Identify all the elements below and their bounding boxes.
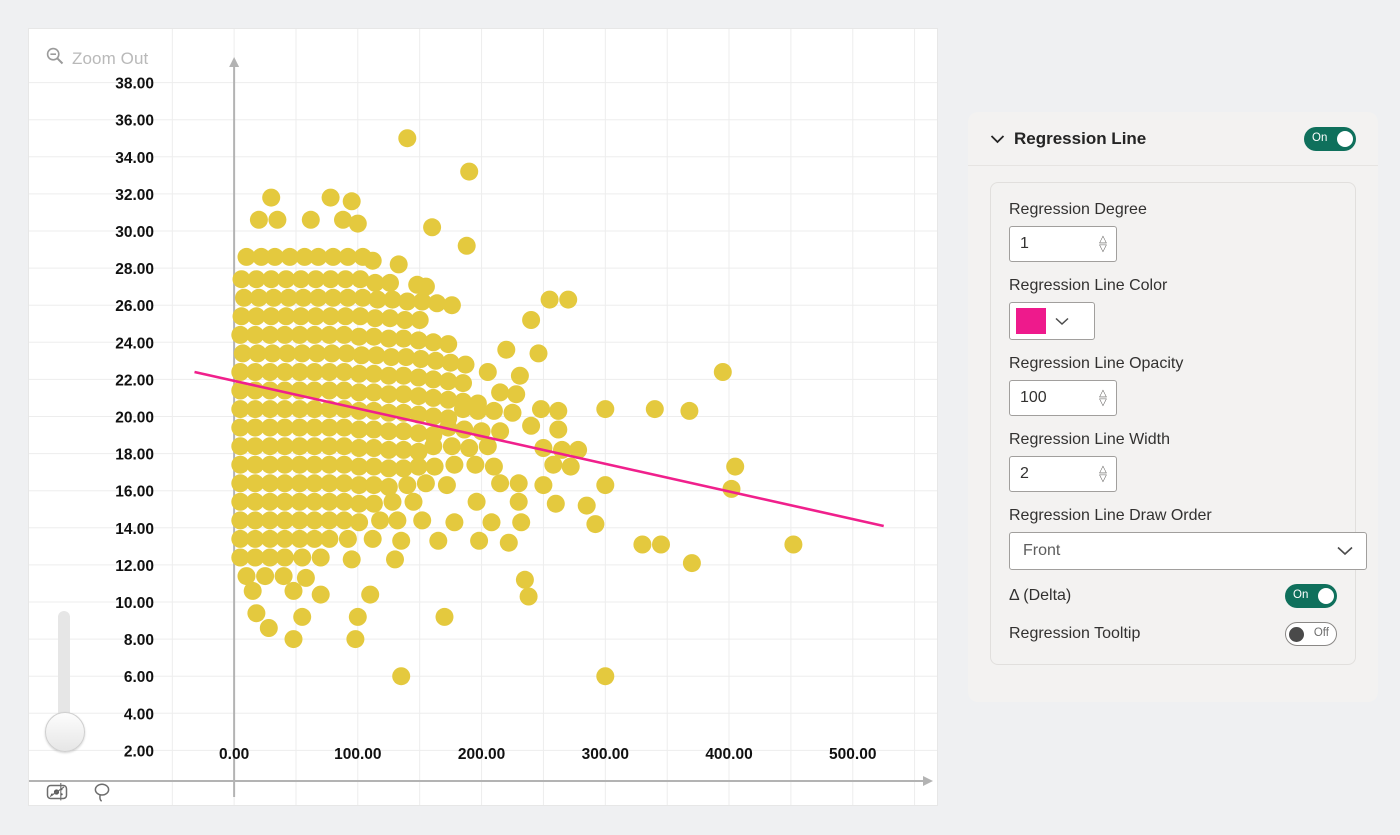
vertical-zoom-slider[interactable] [58,611,70,751]
panel-header[interactable]: Regression Line On [968,112,1378,166]
zoom-out-label: Zoom Out [72,49,148,69]
scatter-plot-canvas[interactable]: 0.00100.00200.00300.00400.00500.00 2.004… [29,29,937,805]
regression-tooltip-toggle-label: Off [1314,628,1329,640]
svg-text:26.00: 26.00 [115,298,154,315]
regression-line-opacity-stepper[interactable]: 100 △ ▽ [1009,380,1117,416]
zoom-out-button[interactable]: Zoom Out [45,46,148,71]
regression-degree-label: Regression Degree [1009,199,1337,221]
svg-text:36.00: 36.00 [115,113,154,130]
svg-text:12.00: 12.00 [115,558,154,575]
svg-text:0.00: 0.00 [219,746,249,763]
toggle-knob [1318,588,1334,604]
svg-text:400.00: 400.00 [705,746,752,763]
regression-line-toggle-label: On [1312,133,1327,145]
regression-line-opacity-label: Regression Line Opacity [1009,353,1337,375]
regression-line-draw-order-select[interactable]: Front [1009,532,1367,570]
toggle-knob [1289,627,1304,642]
scatter-plot-card: 0.00100.00200.00300.00400.00500.00 2.004… [28,28,938,806]
toggle-knob [1337,131,1353,147]
svg-text:6.00: 6.00 [124,669,154,686]
regression-line-settings-panel: Regression Line On Regression Degree 1 △… [968,112,1378,702]
svg-text:500.00: 500.00 [829,746,876,763]
svg-text:28.00: 28.00 [115,261,154,278]
svg-text:22.00: 22.00 [115,372,154,389]
chevron-down-icon[interactable] [1336,543,1354,559]
svg-text:24.00: 24.00 [115,335,154,352]
panel-title: Regression Line [1014,129,1304,149]
svg-text:30.00: 30.00 [115,224,154,241]
zoom-slider-thumb[interactable] [45,712,85,752]
svg-text:20.00: 20.00 [115,410,154,427]
svg-text:14.00: 14.00 [115,521,154,538]
regression-degree-value[interactable]: 1 [1010,235,1090,253]
regression-line-draw-order-value: Front [1023,542,1060,560]
svg-text:34.00: 34.00 [115,150,154,167]
regression-line-width-label: Regression Line Width [1009,429,1337,451]
delta-toggle-label: On [1293,590,1308,602]
stepper-arrows[interactable]: △ ▽ [1090,390,1116,407]
svg-text:100.00: 100.00 [334,746,381,763]
stepper-arrows[interactable]: △ ▽ [1090,236,1116,253]
svg-text:4.00: 4.00 [124,706,154,723]
scatter-plot-icon[interactable] [45,782,69,807]
svg-text:300.00: 300.00 [582,746,629,763]
stepper-arrows[interactable]: △ ▽ [1090,466,1116,483]
color-swatch[interactable] [1016,308,1046,334]
svg-text:16.00: 16.00 [115,484,154,501]
regression-tooltip-toggle[interactable]: Off [1285,622,1337,646]
regression-line-color-label: Regression Line Color [1009,275,1337,297]
regression-line-draw-order-label: Regression Line Draw Order [1009,505,1337,527]
stepper-down-icon[interactable]: ▽ [1099,475,1107,483]
y-axis-tick-labels: 2.004.006.008.0010.0012.0014.0016.0018.0… [115,76,154,761]
svg-text:200.00: 200.00 [458,746,505,763]
regression-line-width-stepper[interactable]: 2 △ ▽ [1009,456,1117,492]
x-axis-tick-labels: 0.00100.00200.00300.00400.00500.00 [219,746,876,763]
regression-line-toggle[interactable]: On [1304,127,1356,151]
stepper-down-icon[interactable]: ▽ [1099,245,1107,253]
svg-text:10.00: 10.00 [115,595,154,612]
regression-tooltip-row: Regression Tooltip Off [1009,622,1337,646]
svg-text:32.00: 32.00 [115,187,154,204]
svg-text:8.00: 8.00 [124,632,154,649]
regression-tooltip-label: Regression Tooltip [1009,625,1140,643]
regression-degree-stepper[interactable]: 1 △ ▽ [1009,226,1117,262]
chevron-down-icon[interactable] [990,130,1005,147]
delta-label: Δ (Delta) [1009,587,1071,605]
delta-row: Δ (Delta) On [1009,584,1337,608]
regression-line-width-value[interactable]: 2 [1010,465,1090,483]
svg-text:2.00: 2.00 [124,743,154,760]
regression-line-color-picker[interactable] [1009,302,1095,340]
delta-toggle[interactable]: On [1285,584,1337,608]
chevron-down-icon[interactable] [1054,314,1070,329]
svg-text:18.00: 18.00 [115,447,154,464]
regression-line-opacity-value[interactable]: 100 [1010,389,1090,407]
svg-text:38.00: 38.00 [115,76,154,93]
magnifier-minus-icon [45,46,65,71]
speech-bubble-icon[interactable] [91,781,113,808]
regression-fields-group: Regression Degree 1 △ ▽ Regression Line … [990,182,1356,665]
stepper-down-icon[interactable]: ▽ [1099,399,1107,407]
